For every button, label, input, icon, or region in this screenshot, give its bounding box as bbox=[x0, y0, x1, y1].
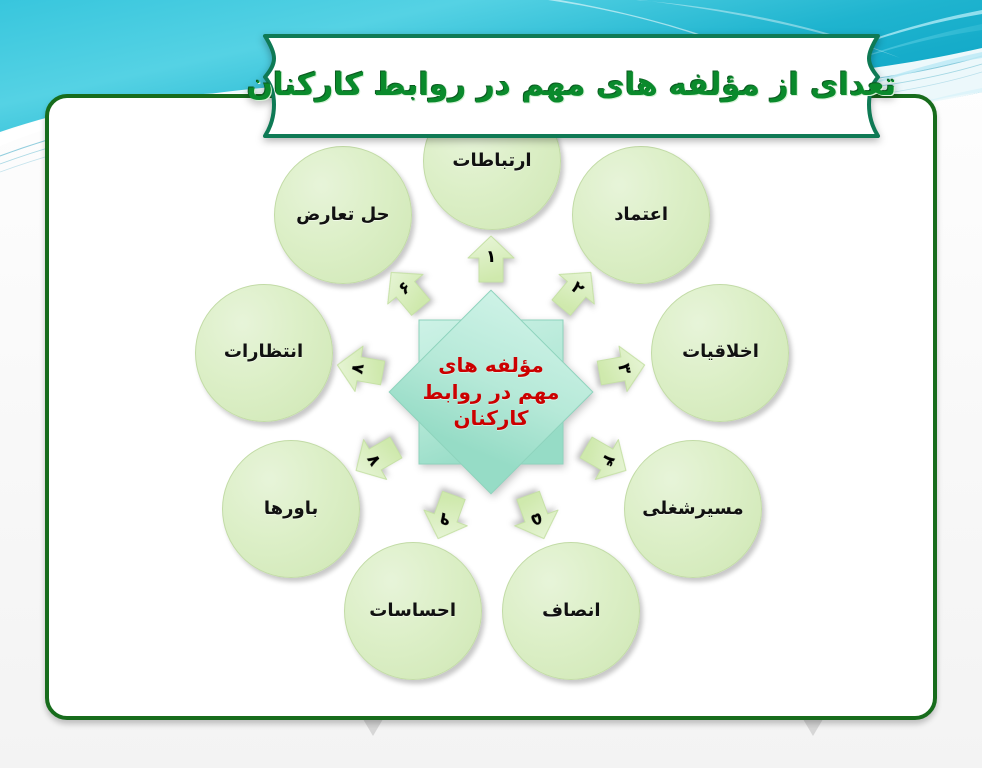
slide-canvas: تعدای از مؤلفه های مهم در روابط کارکنان bbox=[0, 0, 982, 768]
center-line-1: مؤلفه های bbox=[438, 354, 544, 376]
node-emotions[interactable]: احساسات bbox=[344, 542, 482, 680]
node-label-fairness: انصاف bbox=[536, 601, 606, 622]
page-title: تعدای از مؤلفه های مهم در روابط کارکنان bbox=[243, 33, 900, 139]
node-label-conflict: حل تعارض bbox=[290, 205, 396, 226]
node-ethics[interactable]: اخلاقیات bbox=[651, 284, 789, 422]
center-line-2: مهم در روابط bbox=[423, 381, 560, 403]
title-plaque: تعدای از مؤلفه های مهم در روابط کارکنان bbox=[243, 33, 900, 139]
center-star: مؤلفه های مهم در روابط کارکنان bbox=[386, 287, 596, 497]
arrow-ethics: ۳ bbox=[592, 339, 652, 399]
node-career-path[interactable]: مسیرشغلی bbox=[624, 440, 762, 578]
arrow-communications: ۱ bbox=[465, 233, 517, 285]
radial-diagram: مؤلفه های مهم در روابط کارکنان ارتباطاتا… bbox=[45, 94, 937, 720]
arrow-number-communications: ۱ bbox=[486, 247, 496, 267]
node-fairness[interactable]: انصاف bbox=[502, 542, 640, 680]
node-beliefs[interactable]: باورها bbox=[222, 440, 360, 578]
node-label-beliefs: باورها bbox=[258, 499, 324, 520]
node-label-emotions: احساسات bbox=[363, 601, 462, 622]
node-trust[interactable]: اعتماد bbox=[572, 146, 710, 284]
node-label-expectations: انتظارات bbox=[218, 342, 309, 363]
node-label-career-path: مسیرشغلی bbox=[636, 499, 749, 520]
node-label-trust: اعتماد bbox=[608, 205, 674, 226]
node-expectations[interactable]: انتظارات bbox=[195, 284, 333, 422]
arrow-expectations: ۸ bbox=[330, 339, 390, 399]
center-line-3: کارکنان bbox=[453, 407, 528, 429]
node-conflict[interactable]: حل تعارض bbox=[274, 146, 412, 284]
node-label-communications: ارتباطات bbox=[446, 151, 537, 172]
node-label-ethics: اخلاقیات bbox=[676, 342, 765, 363]
center-star-text: مؤلفه های مهم در روابط کارکنان bbox=[386, 287, 596, 497]
